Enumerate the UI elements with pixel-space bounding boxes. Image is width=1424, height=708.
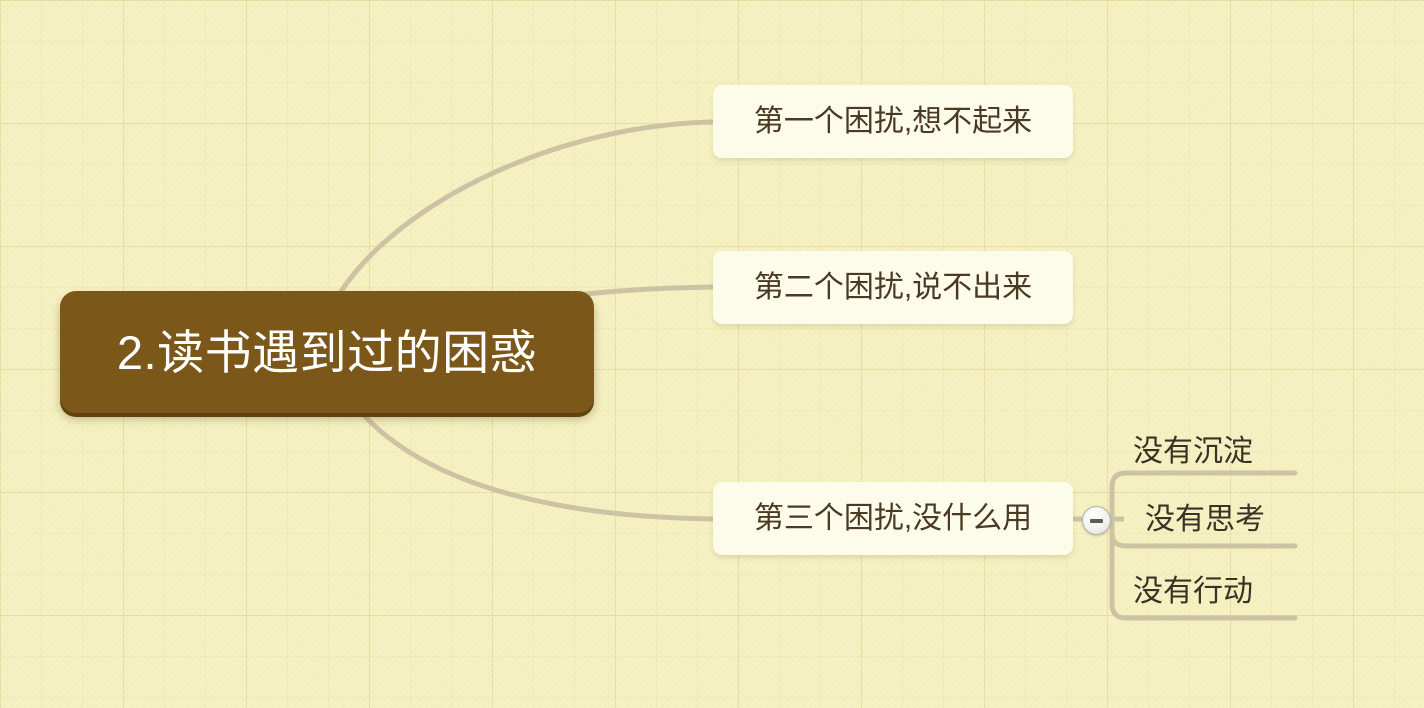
root-node[interactable]: 2.读书遇到过的困惑 [60, 291, 594, 413]
branch-node-2[interactable]: 第二个困扰,说不出来 [713, 251, 1073, 324]
leaf-node-3-label: 没有行动 [1133, 577, 1253, 607]
branch-node-1-label: 第一个困扰,想不起来 [754, 107, 1032, 137]
leaf-node-2[interactable]: 没有思考 [1145, 497, 1315, 543]
connector-root-to-branch-3 [360, 411, 712, 519]
root-node-label: 2.读书遇到过的困惑 [117, 329, 537, 376]
branch-node-3[interactable]: 第三个困扰,没什么用 [713, 482, 1073, 555]
branch-node-2-label: 第二个困扰,说不出来 [754, 273, 1032, 303]
collapse-toggle-button[interactable] [1082, 506, 1111, 535]
leaf-node-3[interactable]: 没有行动 [1133, 569, 1303, 615]
minus-icon [1090, 519, 1103, 523]
branch-node-1[interactable]: 第一个困扰,想不起来 [713, 85, 1073, 158]
leaf-node-2-label: 没有思考 [1145, 505, 1265, 535]
leaf-node-1-label: 没有沉淀 [1133, 437, 1253, 467]
connector-root-to-branch-1 [340, 122, 712, 293]
mindmap-canvas: 2.读书遇到过的困惑 第一个困扰,想不起来 第二个困扰,说不出来 第三个困扰,没… [0, 0, 1424, 708]
leaf-node-1[interactable]: 没有沉淀 [1133, 429, 1303, 475]
branch-node-3-label: 第三个困扰,没什么用 [754, 504, 1032, 534]
